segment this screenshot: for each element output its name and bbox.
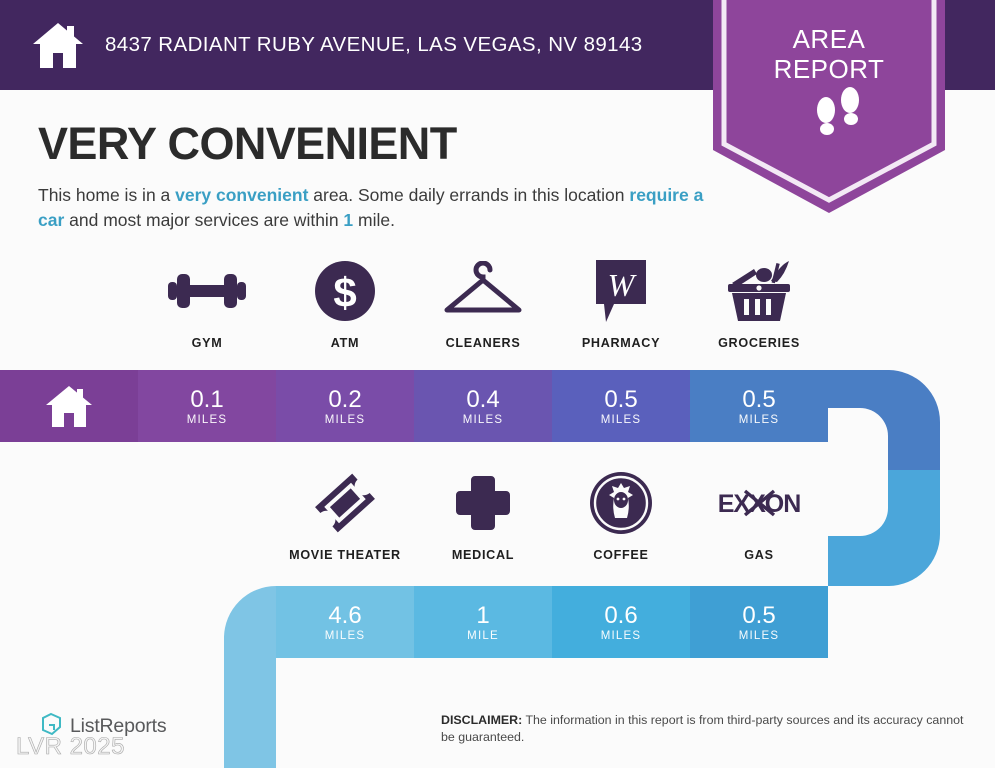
property-address: 8437 RADIANT RUBY AVENUE, LAS VEGAS, NV … — [105, 33, 643, 57]
amenity-label: GROCERIES — [718, 336, 800, 350]
intro-text-2: area. Some daily errands in this locatio… — [308, 185, 629, 205]
distance-band-row-1: 0.1 MILES 0.2 MILES 0.4 MILES 0.5 MILES … — [0, 370, 828, 442]
band-unit: MILES — [325, 630, 366, 642]
disclaimer: DISCLAIMER: The information in this repo… — [441, 712, 971, 746]
band-unit: MILES — [325, 414, 366, 426]
amenity-cleaners: CLEANERS — [414, 258, 552, 350]
amenity-label: PHARMACY — [582, 336, 660, 350]
svg-text:W: W — [608, 267, 638, 303]
badge-line-1: AREA — [713, 24, 945, 54]
amenity-movie-theater: MOVIE THEATER — [276, 470, 414, 562]
badge-text: AREA REPORT — [713, 24, 945, 84]
amenity-atm: $ ATM — [276, 258, 414, 350]
amenity-label: ATM — [331, 336, 359, 350]
area-report-badge: AREA REPORT — [713, 0, 945, 213]
band-value: 0.6 — [604, 603, 637, 629]
watermark: LVR 2025 — [16, 733, 125, 761]
intro-highlight-1: very convenient — [175, 185, 308, 205]
dollar-circle-icon: $ — [314, 258, 376, 324]
band-unit: MILES — [187, 414, 228, 426]
band-cell-groceries: 0.5 MILES — [690, 370, 828, 442]
band-value: 1 — [476, 603, 489, 629]
amenity-gas: EXXON GAS — [690, 470, 828, 562]
band-cell-gym: 0.1 MILES — [138, 370, 276, 442]
ticket-icon — [314, 470, 376, 536]
dumbbell-icon — [164, 258, 250, 324]
house-icon — [31, 20, 85, 70]
amenity-label: GAS — [744, 548, 773, 562]
band-unit: MILES — [601, 414, 642, 426]
intro-paragraph: This home is in a very convenient area. … — [38, 183, 710, 233]
amenity-label: CLEANERS — [446, 336, 521, 350]
area-report-page: 8437 RADIANT RUBY AVENUE, LAS VEGAS, NV … — [0, 0, 995, 768]
band-home-cell — [0, 370, 138, 442]
band-cell-coffee: 0.6 MILES — [552, 586, 690, 658]
band-unit: MILES — [463, 414, 504, 426]
disclaimer-label: DISCLAIMER: — [441, 713, 522, 727]
amenity-pharmacy: W PHARMACY — [552, 258, 690, 350]
amenity-icon-row-2: MOVIE THEATER MEDICAL COF — [276, 470, 828, 562]
page-title: VERY CONVENIENT — [38, 118, 457, 170]
intro-highlight-3: 1 — [343, 210, 353, 230]
walgreens-w-icon: W — [592, 258, 650, 324]
amenity-label: MOVIE THEATER — [289, 548, 401, 562]
band-unit: MILES — [601, 630, 642, 642]
band-value: 0.5 — [604, 387, 637, 413]
band-value: 4.6 — [328, 603, 361, 629]
band-value: 0.4 — [466, 387, 499, 413]
band-unit: MILES — [739, 630, 780, 642]
amenity-label: MEDICAL — [452, 548, 514, 562]
hanger-icon — [441, 258, 525, 324]
band-value: 0.2 — [328, 387, 361, 413]
amenity-groceries: GROCERIES — [690, 258, 828, 350]
medical-cross-icon — [454, 470, 512, 536]
amenity-coffee: COFFEE — [552, 470, 690, 562]
grocery-basket-icon — [724, 258, 794, 324]
amenity-medical: MEDICAL — [414, 470, 552, 562]
band-unit: MILE — [467, 630, 499, 642]
band-value: 0.5 — [742, 387, 775, 413]
intro-text-1: This home is in a — [38, 185, 175, 205]
svg-text:$: $ — [333, 269, 356, 316]
intro-text-4: mile. — [353, 210, 395, 230]
band-cell-atm: 0.2 MILES — [276, 370, 414, 442]
band-cell-movie-theater: 4.6 MILES — [276, 586, 414, 658]
distance-band-row-2: 4.6 MILES 1 MILE 0.6 MILES 0.5 MILES — [276, 586, 828, 658]
band-cell-cleaners: 0.4 MILES — [414, 370, 552, 442]
band-cell-pharmacy: 0.5 MILES — [552, 370, 690, 442]
exxon-icon: EXXON — [716, 470, 802, 536]
band-value: 0.5 — [742, 603, 775, 629]
amenity-label: COFFEE — [593, 548, 648, 562]
band-cell-gas: 0.5 MILES — [690, 586, 828, 658]
band-value: 0.1 — [190, 387, 223, 413]
starbucks-icon — [589, 470, 653, 536]
band-unit: MILES — [739, 414, 780, 426]
amenity-icon-row-1: GYM $ ATM CLEANERS — [138, 258, 828, 350]
amenity-gym: GYM — [138, 258, 276, 350]
badge-line-2: REPORT — [713, 54, 945, 84]
intro-text-3: and most major services are within — [64, 210, 343, 230]
amenity-label: GYM — [192, 336, 223, 350]
band-cell-medical: 1 MILE — [414, 586, 552, 658]
